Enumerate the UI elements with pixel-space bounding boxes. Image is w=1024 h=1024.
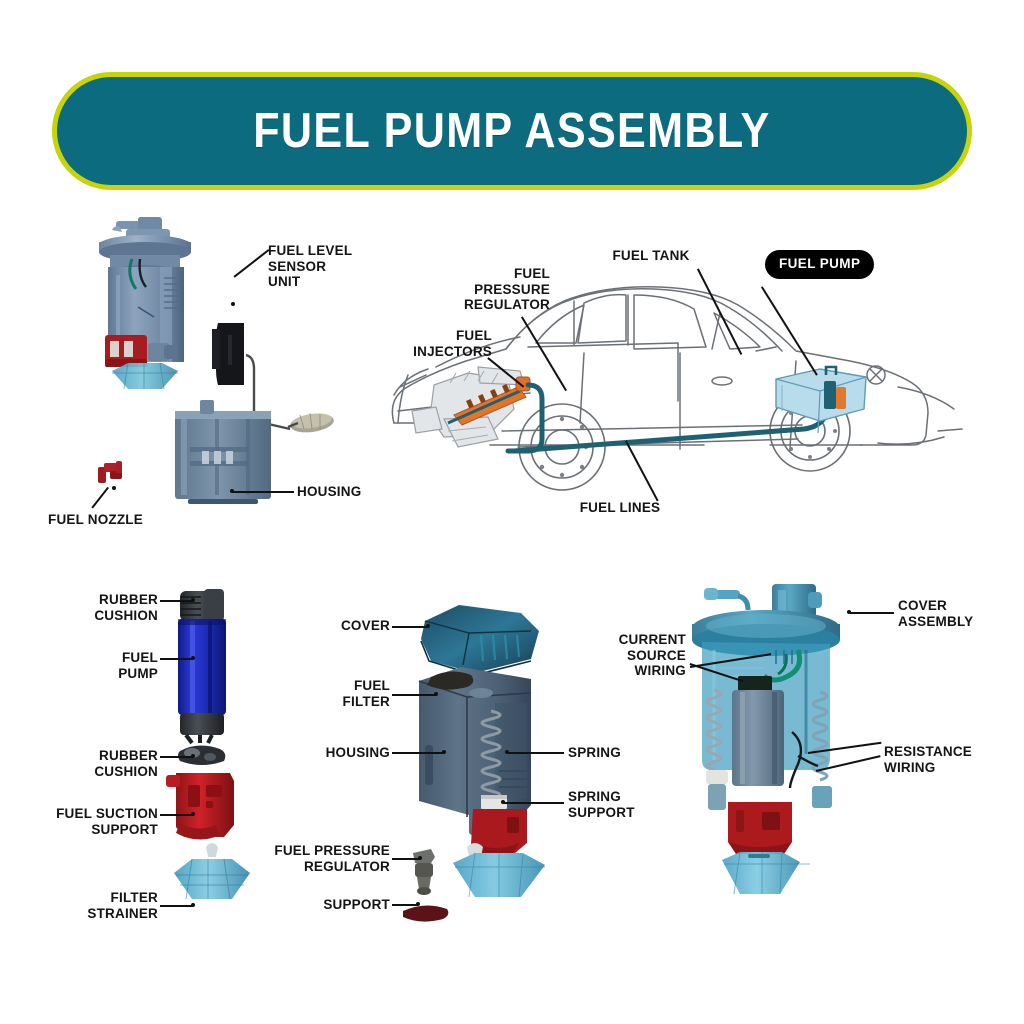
leader-dot-housing-top [230, 489, 234, 493]
label-fuel-level-sensor-unit: FUEL LEVEL SENSOR UNIT [268, 243, 378, 290]
leader-filter-strainer [160, 905, 193, 907]
label-housing-bm: HOUSING [308, 745, 390, 761]
leader-dot-cover-assembly [847, 610, 851, 614]
badge-fuel-pump: FUEL PUMP [765, 250, 874, 279]
leader-spring-support [504, 802, 564, 804]
label-support: SUPPORT [318, 897, 390, 913]
leader-dot-fpr-bm [418, 856, 422, 860]
label-fuel-filter: FUEL FILTER [330, 678, 390, 709]
label-fuel-injectors: FUEL INJECTORS [402, 328, 492, 359]
leader-dot-rc-top [191, 598, 195, 602]
bottom-middle-housing-art [395, 595, 580, 930]
label-cover-assembly: COVER ASSEMBLY [898, 598, 988, 629]
leader-spring [508, 752, 564, 754]
leader-rubber-cushion-top [160, 600, 193, 602]
leader-fuel-filter [392, 694, 436, 696]
label-fuel-pump-bl: FUEL PUMP [90, 650, 158, 681]
leader-dot-sensor [231, 302, 235, 306]
leader-dot-housing-bm [442, 750, 446, 754]
label-cover: COVER [330, 618, 390, 634]
label-rubber-cushion-bottom: RUBBER CUSHION [68, 748, 158, 779]
leader-dot-fp-bl [191, 656, 195, 660]
label-fuel-suction-support: FUEL SUCTION SUPPORT [42, 806, 158, 837]
bottom-right-assembly-art [680, 580, 880, 925]
leader-housing-bm [392, 752, 444, 754]
page-title: FUEL PUMP ASSEMBLY [253, 103, 770, 159]
leader-dot-support [416, 902, 420, 906]
label-filter-strainer: FILTER STRAINER [76, 890, 158, 921]
leader-fpr-bm [392, 858, 420, 860]
label-fuel-nozzle: FUEL NOZZLE [48, 512, 168, 528]
label-fuel-pressure-regulator: FUEL PRESSURE REGULATOR [438, 266, 550, 313]
label-fuel-pressure-regulator-bm: FUEL PRESSURE REGULATOR [272, 843, 390, 874]
leader-dot-fs [191, 903, 195, 907]
label-rubber-cushion-top: RUBBER CUSHION [68, 592, 158, 623]
leader-dot-spring-support [501, 800, 505, 804]
leader-rubber-cushion-bottom [160, 756, 193, 758]
bottom-left-pump-parts-art [150, 585, 280, 925]
label-current-source-wiring: CURRENT SOURCE WIRING [600, 632, 686, 679]
label-fuel-lines: FUEL LINES [560, 500, 680, 516]
leader-support [392, 904, 418, 906]
leader-dot-nozzle [112, 486, 116, 490]
leader-cover-assembly [850, 612, 894, 614]
label-fuel-tank: FUEL TANK [596, 248, 706, 264]
leader-dot-fss [191, 812, 195, 816]
label-spring-support: SPRING SUPPORT [568, 789, 654, 820]
leader-dot-cover [426, 624, 430, 628]
leader-cover [392, 626, 428, 628]
label-resistance-wiring: RESISTANCE WIRING [884, 744, 992, 775]
label-spring: SPRING [568, 745, 638, 761]
leader-housing-top [232, 491, 294, 493]
leader-dot-fuel-filter [434, 692, 438, 696]
leader-dot-rc-bot [191, 754, 195, 758]
leader-dot-spring [505, 750, 509, 754]
leader-fuel-pump-bl [160, 658, 193, 660]
leader-fuel-suction-support [160, 814, 193, 816]
page-banner: FUEL PUMP ASSEMBLY [52, 72, 972, 190]
